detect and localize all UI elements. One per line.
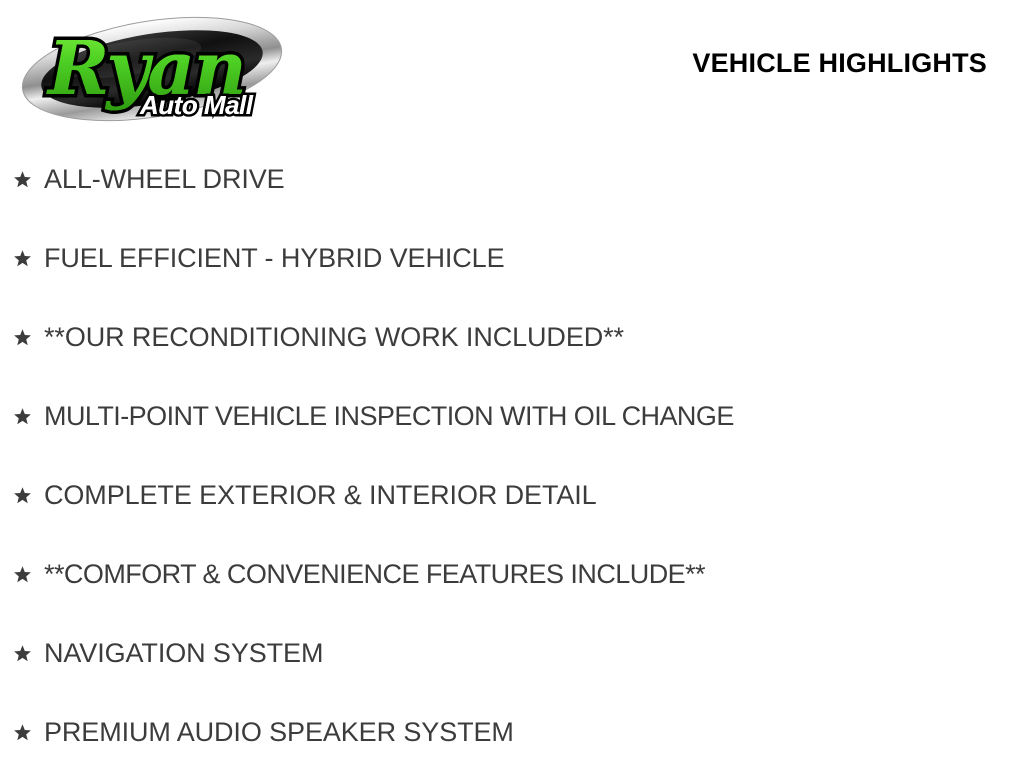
svg-text:Auto Mall: Auto Mall bbox=[139, 90, 254, 120]
list-item: PREMIUM AUDIO SPEAKER SYSTEM bbox=[0, 693, 1024, 772]
star-icon bbox=[13, 249, 32, 271]
highlight-label: MULTI-POINT VEHICLE INSPECTION WITH OIL … bbox=[44, 403, 734, 430]
highlight-label: PREMIUM AUDIO SPEAKER SYSTEM bbox=[44, 719, 514, 746]
page-title: VEHICLE HIGHLIGHTS bbox=[692, 50, 987, 77]
highlight-label: ALL-WHEEL DRIVE bbox=[44, 166, 285, 193]
ryan-auto-mall-logo: Ryan Ryan Auto Mall Auto Mall bbox=[12, 6, 292, 128]
list-item: **OUR RECONDITIONING WORK INCLUDED** bbox=[0, 298, 1024, 377]
star-icon bbox=[13, 407, 32, 429]
highlight-label: NAVIGATION SYSTEM bbox=[44, 640, 323, 667]
star-icon bbox=[13, 328, 32, 350]
highlight-label: COMPLETE EXTERIOR & INTERIOR DETAIL bbox=[44, 482, 597, 509]
star-icon bbox=[13, 486, 32, 508]
page-header: Ryan Ryan Auto Mall Auto Mall VEHICLE HI… bbox=[0, 0, 1024, 140]
star-icon bbox=[13, 565, 32, 587]
logo-sub-text: Auto Mall Auto Mall bbox=[139, 90, 254, 120]
highlight-label: FUEL EFFICIENT - HYBRID VEHICLE bbox=[44, 245, 504, 272]
star-icon bbox=[13, 723, 32, 745]
highlight-label: **OUR RECONDITIONING WORK INCLUDED** bbox=[44, 324, 624, 351]
list-item: ALL-WHEEL DRIVE bbox=[0, 140, 1024, 219]
star-icon bbox=[13, 644, 32, 666]
highlight-label: **COMFORT & CONVENIENCE FEATURES INCLUDE… bbox=[44, 561, 705, 588]
list-item: **COMFORT & CONVENIENCE FEATURES INCLUDE… bbox=[0, 535, 1024, 614]
list-item: MULTI-POINT VEHICLE INSPECTION WITH OIL … bbox=[0, 377, 1024, 456]
list-item: NAVIGATION SYSTEM bbox=[0, 614, 1024, 693]
list-item: FUEL EFFICIENT - HYBRID VEHICLE bbox=[0, 219, 1024, 298]
vehicle-highlights-list: ALL-WHEEL DRIVE FUEL EFFICIENT - HYBRID … bbox=[0, 140, 1024, 772]
list-item: COMPLETE EXTERIOR & INTERIOR DETAIL bbox=[0, 456, 1024, 535]
star-icon bbox=[13, 170, 32, 192]
